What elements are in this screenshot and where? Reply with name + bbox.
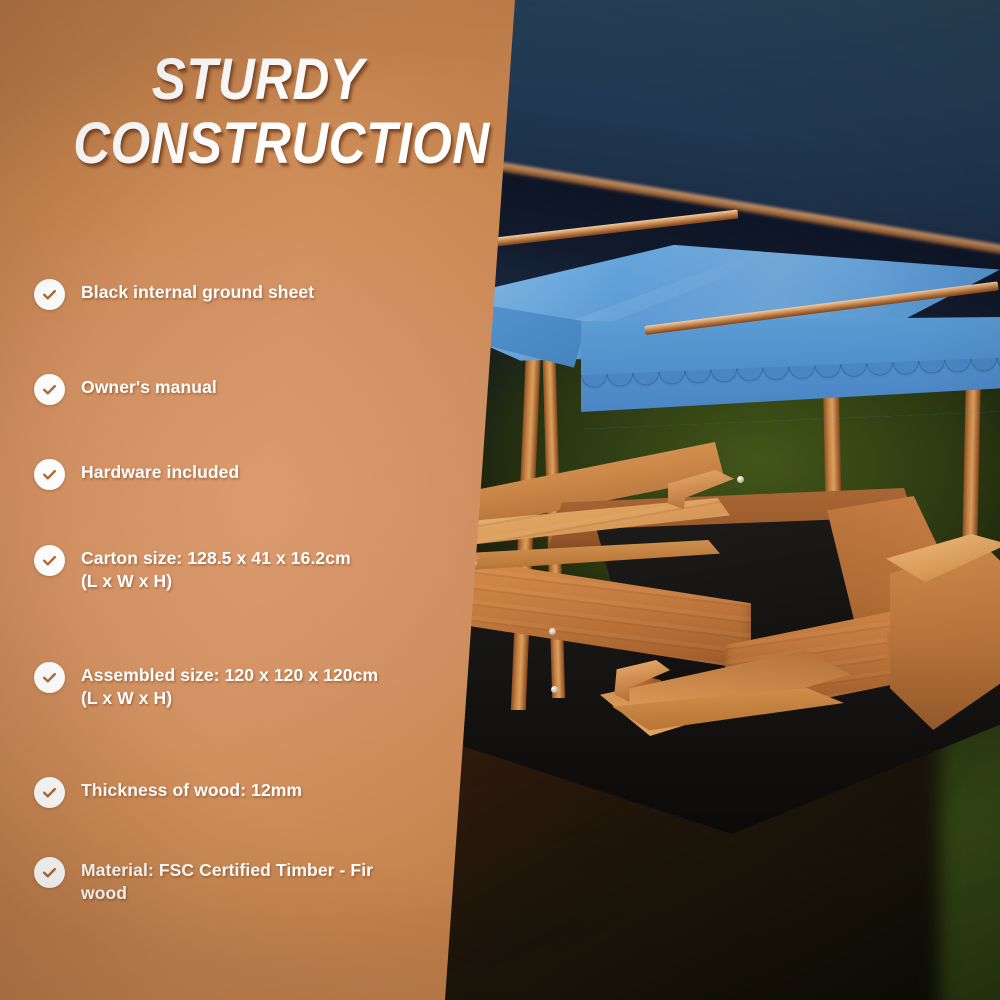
- check-circle-icon: [34, 857, 65, 888]
- feature-label: Owner's manual: [81, 373, 217, 399]
- feature-item-ground-sheet: Black internal ground sheet: [34, 278, 434, 310]
- check-circle-icon: [34, 777, 65, 808]
- check-circle-icon: [34, 545, 65, 576]
- feature-label: Carton size: 128.5 x 41 x 16.2cm (L x W …: [81, 544, 371, 593]
- hardware-screw: [549, 628, 556, 635]
- feature-item-owners-manual: Owner's manual: [34, 373, 434, 405]
- feature-item-carton-size: Carton size: 128.5 x 41 x 16.2cm (L x W …: [34, 544, 434, 593]
- check-circle-icon: [34, 662, 65, 693]
- feature-item-material: Material: FSC Certified Timber - Fir woo…: [34, 856, 434, 905]
- check-circle-icon: [34, 459, 65, 490]
- feature-label: Material: FSC Certified Timber - Fir woo…: [81, 856, 401, 905]
- feature-label: Black internal ground sheet: [81, 278, 314, 304]
- product-feature-poster: STURDY CONSTRUCTION Black internal groun…: [0, 0, 1000, 1000]
- check-circle-icon: [34, 374, 65, 405]
- feature-label: Hardware included: [81, 458, 239, 484]
- hardware-screw: [737, 476, 744, 483]
- feature-item-hardware-included: Hardware included: [34, 458, 434, 490]
- feature-item-assembled-size: Assembled size: 120 x 120 x 120cm (L x W…: [34, 661, 434, 710]
- hardware-screw: [551, 686, 558, 693]
- check-circle-icon: [34, 279, 65, 310]
- feature-label: Assembled size: 120 x 120 x 120cm (L x W…: [81, 661, 391, 710]
- feature-label: Thickness of wood: 12mm: [81, 776, 302, 802]
- feature-item-wood-thickness: Thickness of wood: 12mm: [34, 776, 434, 808]
